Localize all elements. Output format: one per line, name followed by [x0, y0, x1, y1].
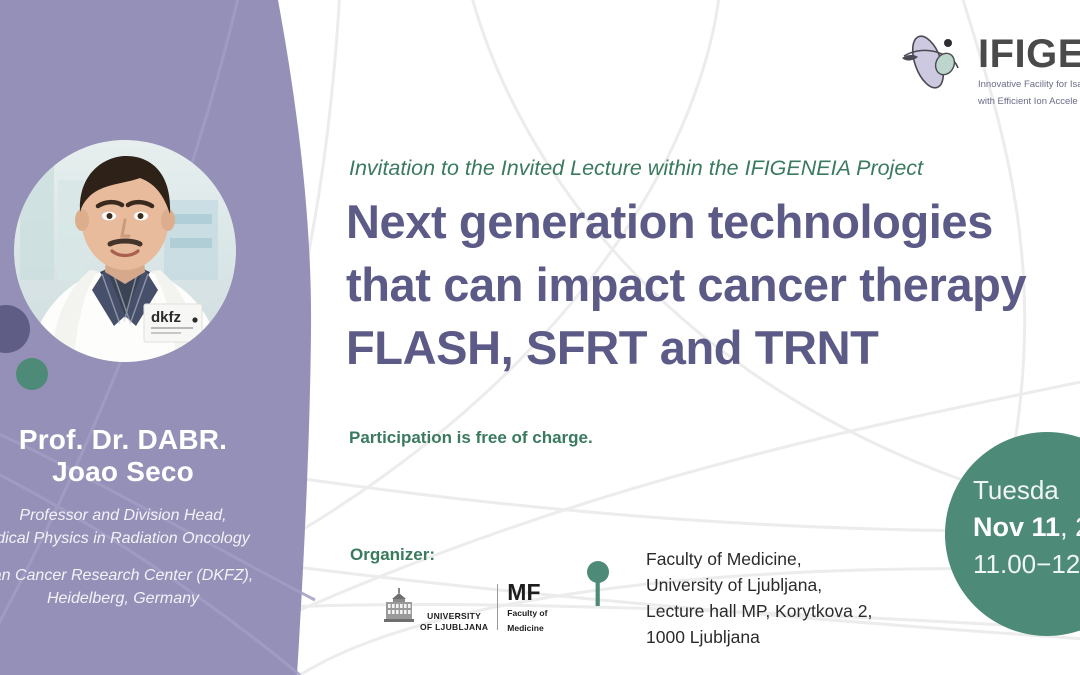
speaker-affiliation-line1: an Cancer Research Center (DKFZ),: [0, 564, 288, 587]
venue-line-2: University of Ljubljana,: [646, 572, 872, 598]
venue-line-4: 1000 Ljubljana: [646, 624, 872, 650]
speaker-role: Professor and Division Head, dical Physi…: [0, 504, 288, 550]
svg-text:dkfz: dkfz: [151, 309, 181, 326]
university-building-icon: [382, 587, 416, 627]
event-weekday: Tuesda: [973, 472, 1080, 508]
speaker-name-line2: Joao Seco: [0, 456, 288, 488]
poster-canvas: dkfz Prof. Dr. DABR. Joao Seco Professor…: [0, 0, 1080, 675]
speaker-role-line1: Professor and Division Head,: [0, 504, 288, 527]
faculty-name-line2: Medicine: [507, 623, 547, 634]
university-name-line1: UNIVERSITY: [420, 611, 488, 622]
location-pin-icon: [585, 560, 611, 606]
venue-line-3: Lecture hall MP, Korytkova 2,: [646, 598, 872, 624]
headline-line-2: that can impact cancer therapy: [346, 253, 1080, 316]
ifigeneia-logo: IFIGEN Innovative Facility for Isa with …: [898, 28, 1080, 108]
event-date-main: Nov 11, 2: [973, 508, 1080, 546]
ifigeneia-mark-icon: [898, 28, 964, 92]
faculty-name-line1: Faculty of: [507, 608, 547, 619]
ifigeneia-wordmark: IFIGEN: [978, 34, 1080, 74]
speaker-info: Prof. Dr. DABR. Joao Seco Professor and …: [0, 424, 288, 610]
venue-line-1: Faculty of Medicine,: [646, 546, 872, 572]
page-title: Next generation technologies that can im…: [346, 190, 1080, 379]
dkfz-badge: dkfz: [144, 304, 202, 342]
speaker-portrait-image: dkfz: [14, 140, 236, 362]
headline-line-1: Next generation technologies: [346, 190, 1080, 253]
logo-divider: [497, 584, 498, 630]
eyebrow-text: Invitation to the Invited Lecture within…: [349, 155, 923, 181]
speaker-affiliation-line2: Heidelberg, Germany: [0, 587, 288, 610]
mf-abbreviation: MF: [507, 580, 547, 604]
event-time: 11.00−12: [973, 546, 1080, 582]
participation-note: Participation is free of charge.: [349, 428, 593, 448]
organizer-label: Organizer:: [350, 545, 435, 565]
speaker-photo: dkfz: [14, 140, 236, 362]
event-date: Tuesda Nov 11, 2 11.00−12: [973, 472, 1080, 582]
event-year: , 2: [1060, 512, 1080, 542]
university-name-line2: OF LJUBLJANA: [420, 622, 488, 633]
speaker-name-line1: Prof. Dr. DABR.: [0, 424, 288, 456]
ifigeneia-tagline-line1: Innovative Facility for Isa: [978, 79, 1080, 91]
decorative-dot-green: [16, 358, 48, 390]
venue-address: Faculty of Medicine, University of Ljubl…: [646, 546, 872, 650]
speaker-name: Prof. Dr. DABR. Joao Seco: [0, 424, 288, 488]
event-month-day: Nov 11: [973, 512, 1060, 542]
speaker-role-line2: dical Physics in Radiation Oncology: [0, 527, 288, 550]
ifigeneia-tagline-line2: with Efficient Ion Accele: [978, 96, 1080, 108]
speaker-affiliation: an Cancer Research Center (DKFZ), Heidel…: [0, 564, 288, 610]
university-of-ljubljana-logo: UNIVERSITY OF LJUBLJANA MF Faculty of Me…: [382, 580, 547, 634]
headline-line-3: FLASH, SFRT and TRNT: [346, 316, 1080, 379]
